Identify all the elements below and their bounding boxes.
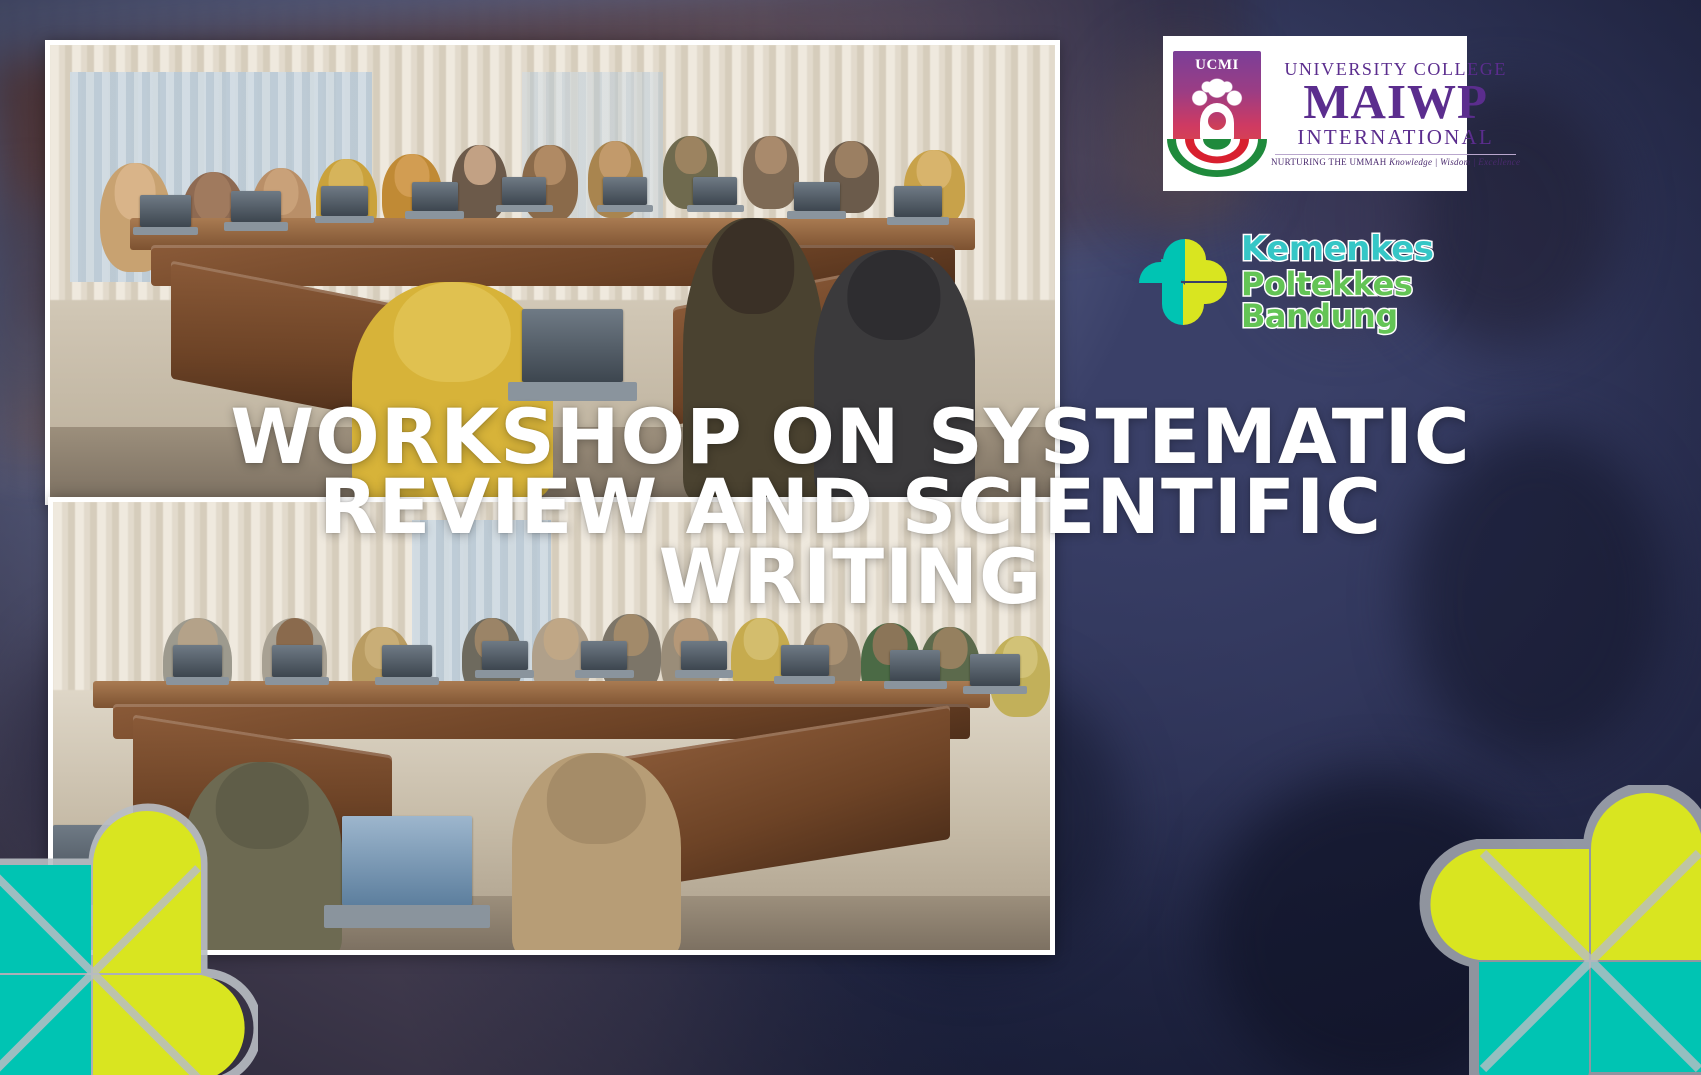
ucmi-tagline: NURTURING THE UMMAH Knowledge | Wisdom |… [1271, 157, 1520, 167]
ucmi-badge-label: UCMI [1173, 57, 1261, 74]
ucmi-line-2: MAIWP [1271, 79, 1520, 125]
ucmi-logo: UCMI UNIVERSITY COLLEGE MAIWP INTERNATIO… [1163, 36, 1467, 191]
corner-motif-left [0, 803, 258, 1075]
kemenkes-line-2: Poltekkes Bandung [1241, 268, 1508, 332]
ucmi-divider [1275, 154, 1516, 155]
corner-motif-right [1411, 785, 1701, 1075]
ucmi-tagline-main: NURTURING THE UMMAH [1271, 157, 1387, 167]
kemenkes-clover-icon [1133, 233, 1233, 331]
ucmi-tagline-values: Knowledge | Wisdom | Excellence [1389, 157, 1520, 167]
kemenkes-line-1: Kemenkes [1241, 232, 1508, 266]
open-book-icon [1167, 139, 1267, 177]
workshop-photo-top [45, 40, 1060, 505]
ucmi-crest-icon: UCMI [1173, 51, 1261, 177]
poster-canvas: WORKSHOP ON SYSTEMATIC REVIEW AND SCIENT… [0, 0, 1701, 1075]
ucmi-line-3: INTERNATIONAL [1271, 125, 1520, 150]
dome-icon [1200, 103, 1234, 143]
kemenkes-logo: Kemenkes Poltekkes Bandung [1133, 232, 1508, 332]
